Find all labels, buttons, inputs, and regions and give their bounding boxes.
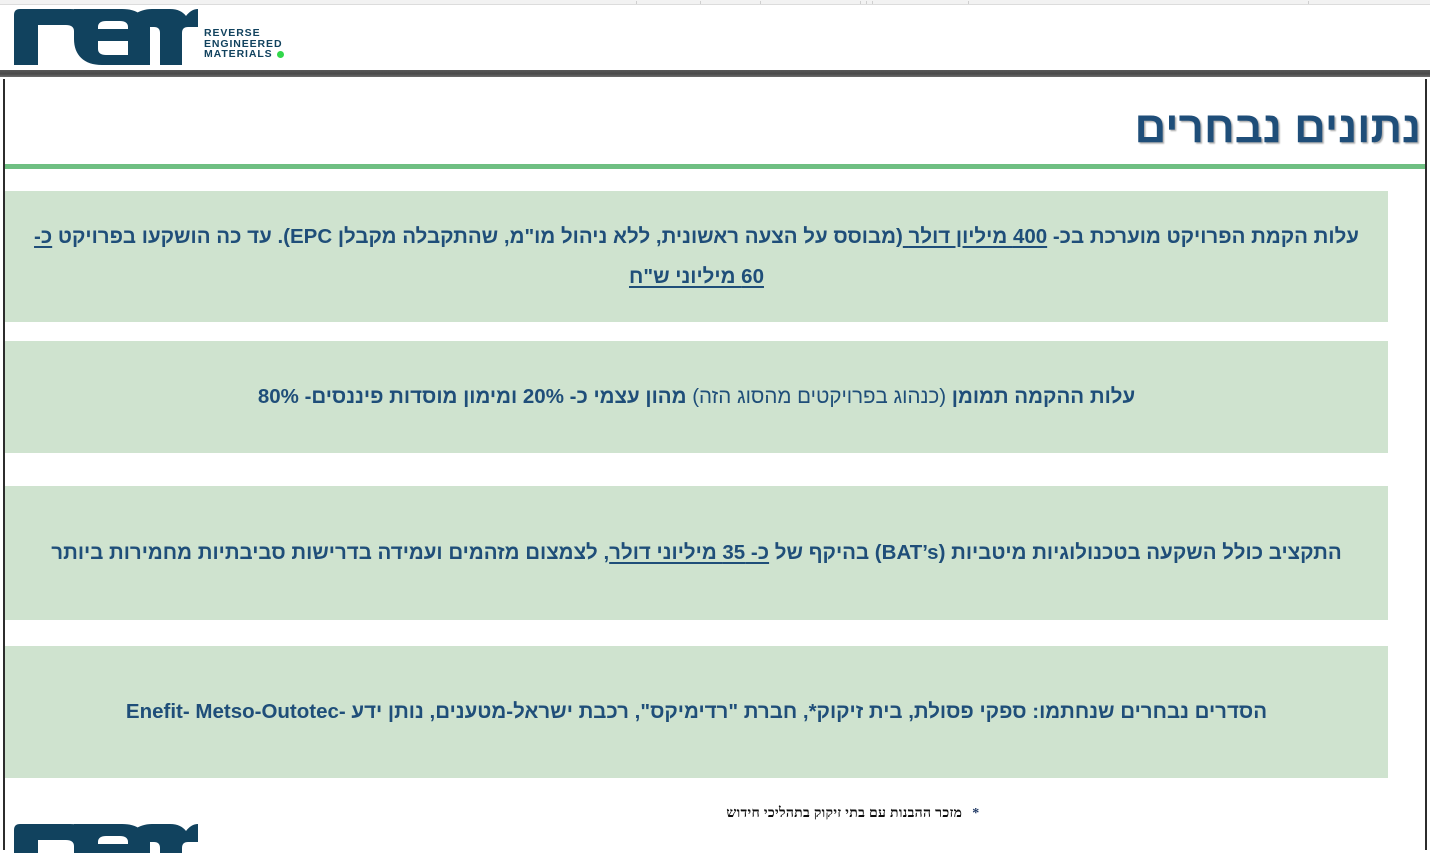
slide-header: REVERSE ENGINEERED MATERIALS xyxy=(0,5,1430,70)
content-box-project-cost: עלות הקמת הפרויקט מוערכת בכ- 400 מיליון … xyxy=(5,191,1388,322)
text-segment: התקציב כולל השקעה בטכנולוגיות מיטביות (B… xyxy=(769,541,1342,564)
text-segment-parenthetical: (כנהוג בפרויקטים מהסוג הזה) xyxy=(692,385,946,408)
text-segment: עלות הקמת הפרויקט מוערכת בכ- xyxy=(1047,225,1359,248)
page-title: נתונים נבחרים xyxy=(1135,105,1426,151)
content-box-bat-budget: התקציב כולל השקעה בטכנולוגיות מיטביות (B… xyxy=(5,486,1388,620)
logo-green-dot-icon xyxy=(277,51,284,58)
text-segment: (מבוסס על הצעה ראשונית, ללא ניהול מו"מ, … xyxy=(52,225,903,248)
footer-rem-logo xyxy=(10,822,198,853)
logo-word-line3-wrap: MATERIALS xyxy=(204,49,284,60)
footnote-text: מזכר ההבנות עם בתי זיקוק בתהליכי חידוש xyxy=(726,806,962,821)
footnote: *מזכר ההבנות עם בתי זיקוק בתהליכי חידוש xyxy=(3,806,1425,822)
content-box-bat-budget-text: התקציב כולל השקעה בטכנולוגיות מיטביות (B… xyxy=(31,533,1362,573)
text-segment: עלות ההקמה תמומן xyxy=(946,385,1135,408)
slide: REVERSE ENGINEERED MATERIALS נתונים נבחר… xyxy=(0,0,1430,853)
text-segment: מהון עצמי כ- 20% ומימון מוסדות פיננסים- … xyxy=(258,385,687,408)
rem-logomark-icon-footer xyxy=(10,822,198,853)
text-segment-underlined: 400 מיליון דולר xyxy=(909,225,1048,248)
content-box-project-cost-text: עלות הקמת הפרויקט מוערכת בכ- 400 מיליון … xyxy=(31,217,1362,297)
text-segment: , לצמצום מזהמים ועמידה בדרישות סביבתיות … xyxy=(51,541,609,564)
footnote-marker: * xyxy=(972,806,979,821)
rem-logo: REVERSE ENGINEERED MATERIALS xyxy=(10,7,284,67)
title-underline-rule xyxy=(3,164,1425,169)
content-box-agreements-text: הסדרים נבחרים שנחתמו: ספקי פסולת, בית זי… xyxy=(31,692,1362,732)
rem-logo-wordmark: REVERSE ENGINEERED MATERIALS xyxy=(204,28,284,60)
text-segment: הסדרים נבחרים שנחתמו: ספקי פסולת, בית זי… xyxy=(126,700,1267,723)
slide-body: נתונים נבחרים עלות הקמת הפרויקט מוערכת ב… xyxy=(3,79,1427,850)
content-box-financing-text: עלות ההקמה תמומן (כנהוג בפרויקטים מהסוג … xyxy=(31,377,1362,417)
content-box-financing: עלות ההקמה תמומן (כנהוג בפרויקטים מהסוג … xyxy=(5,341,1388,453)
header-divider xyxy=(0,70,1430,77)
content-box-agreements: הסדרים נבחרים שנחתמו: ספקי פסולת, בית זי… xyxy=(5,646,1388,778)
page-title-wrap: נתונים נבחרים xyxy=(3,105,1425,151)
text-segment-underlined: כ- 35 מיליוני דולר xyxy=(609,541,769,564)
logo-word-line1: REVERSE xyxy=(204,28,284,39)
rem-logomark-icon xyxy=(10,7,198,67)
logo-word-line3: MATERIALS xyxy=(204,48,273,60)
